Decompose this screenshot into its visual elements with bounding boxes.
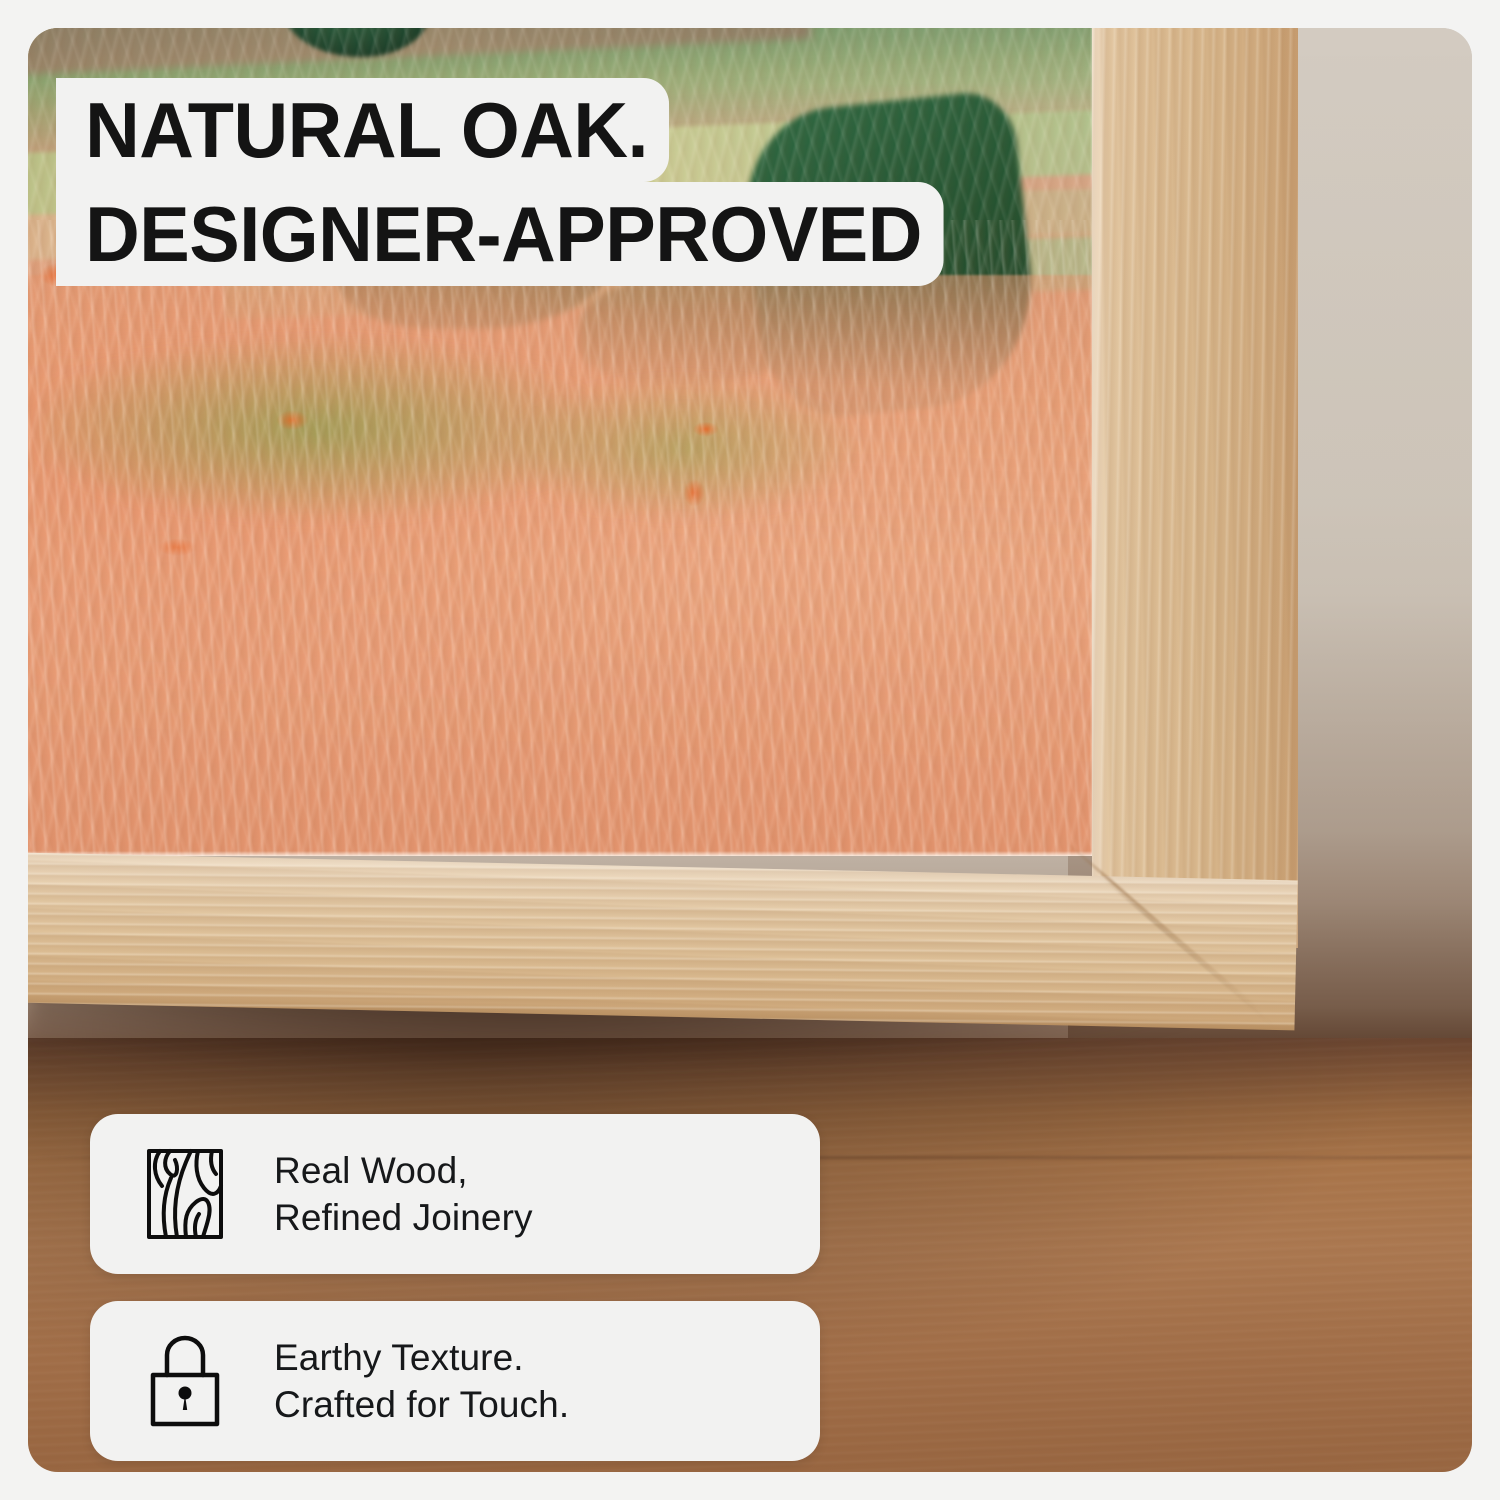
feature-badge-text: Real Wood, Refined Joinery	[274, 1147, 533, 1241]
feature-badge-list: Real Wood, Refined Joinery Earthy Textur…	[90, 1114, 820, 1461]
feature-line-2: Refined Joinery	[274, 1194, 533, 1241]
wood-grain-icon	[142, 1148, 228, 1240]
headline-line-2: DESIGNER-APPROVED	[56, 182, 943, 286]
frame-grain-right-b	[1092, 28, 1298, 948]
feature-badge-real-wood: Real Wood, Refined Joinery	[90, 1114, 820, 1274]
product-image-page: NATURAL OAK. DESIGNER-APPROVED	[0, 0, 1500, 1500]
frame-rail-right	[1092, 28, 1298, 948]
feature-badge-text: Earthy Texture. Crafted for Touch.	[274, 1334, 569, 1428]
feature-line-2: Crafted for Touch.	[274, 1381, 569, 1428]
product-photo-card: NATURAL OAK. DESIGNER-APPROVED	[28, 28, 1472, 1472]
padlock-icon	[142, 1335, 228, 1427]
headline-line-1: NATURAL OAK.	[56, 78, 669, 182]
painting-brush-strokes-c	[28, 220, 1096, 856]
feature-line-1: Earthy Texture.	[274, 1337, 524, 1378]
feature-badge-earthy-texture: Earthy Texture. Crafted for Touch.	[90, 1301, 820, 1461]
feature-line-1: Real Wood,	[274, 1150, 468, 1191]
